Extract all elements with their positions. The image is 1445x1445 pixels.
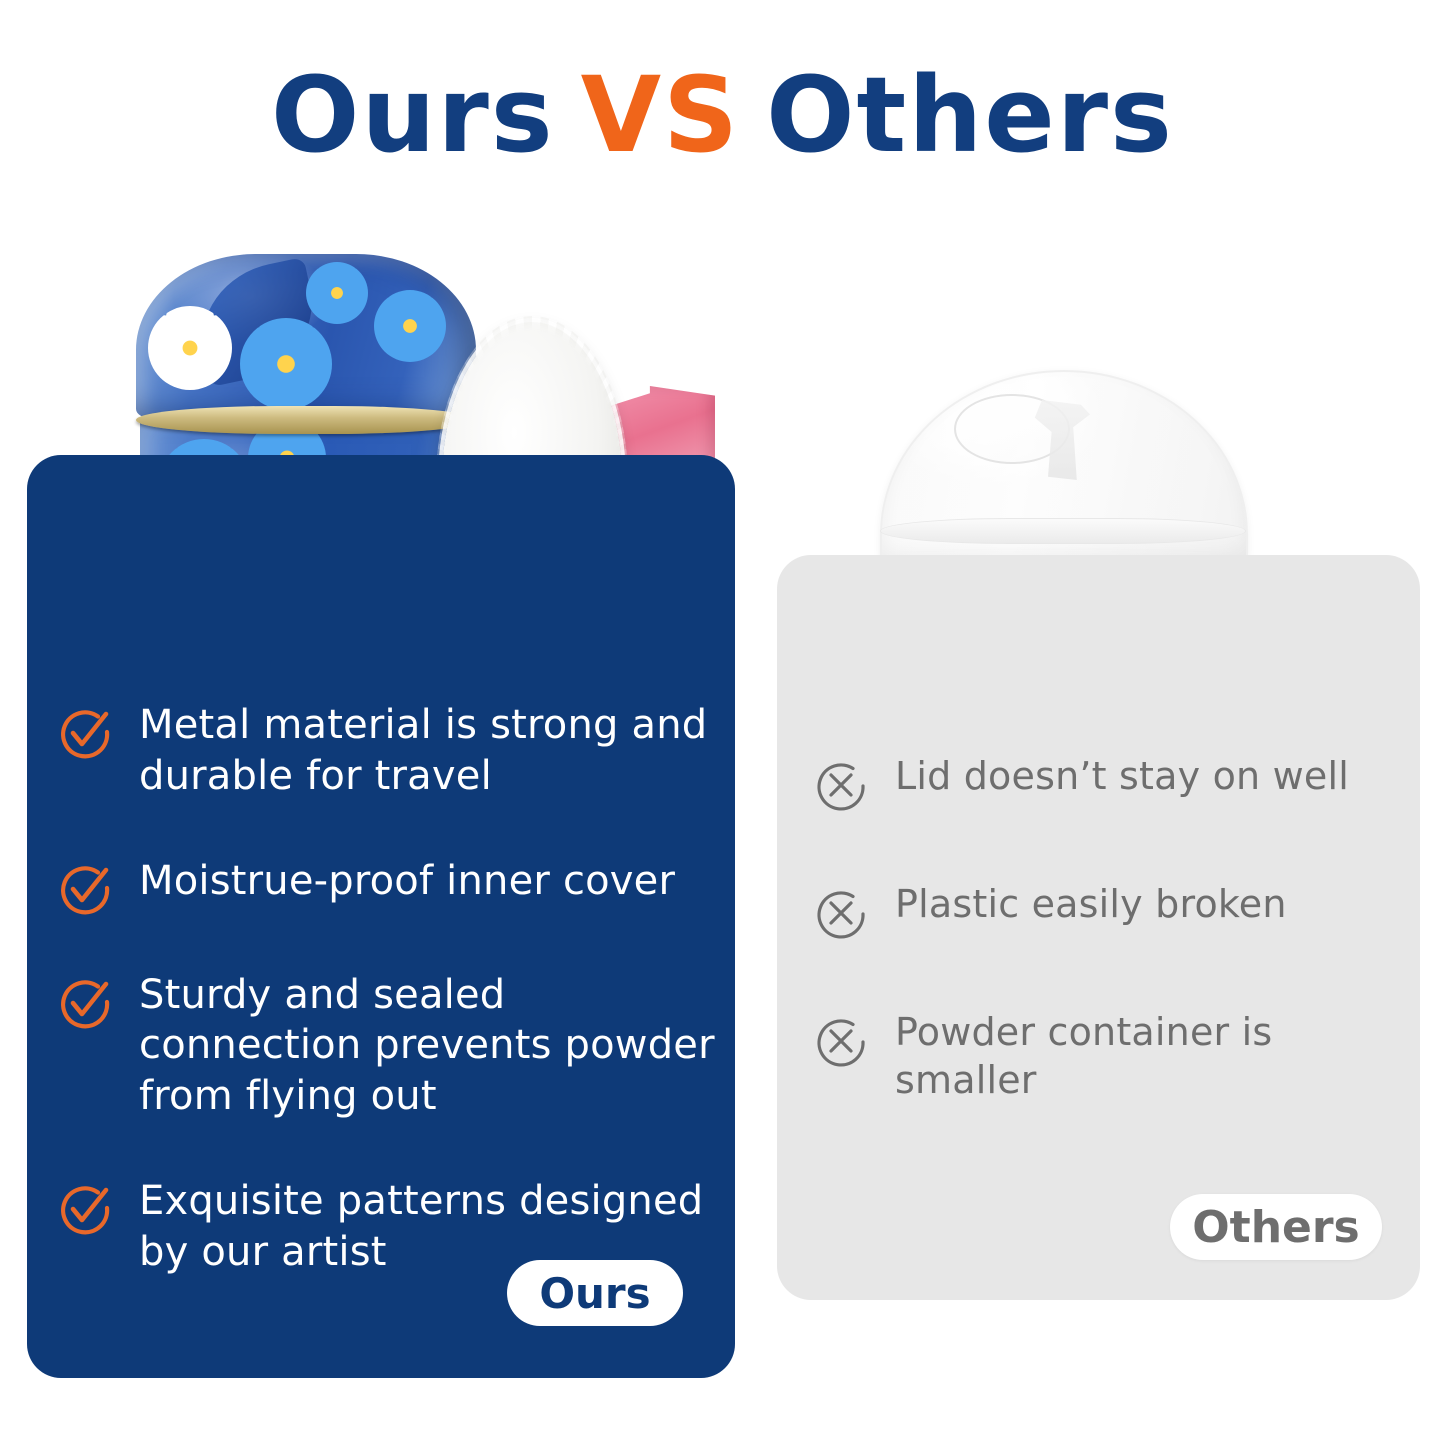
dome-rim [880, 518, 1246, 544]
list-item: Sturdy and sealed connection prevents po… [57, 970, 717, 1122]
list-item: Moistrue-proof inner cover [57, 856, 717, 916]
list-item: Lid doesn’t stay on well [813, 753, 1413, 813]
others-badge: Others [1170, 1194, 1382, 1260]
feature-text: Metal material is strong and durable for… [139, 700, 717, 802]
title-vs: VS [581, 54, 740, 176]
tin-gold-band [136, 406, 476, 434]
feature-text: Sturdy and sealed connection prevents po… [139, 970, 717, 1122]
check-circle-icon [57, 1180, 113, 1236]
ours-panel: Metal material is strong and durable for… [27, 455, 735, 1378]
others-panel: Lid doesn’t stay on well Plastic easily … [777, 555, 1420, 1300]
tin-lid [136, 254, 476, 419]
others-feature-list: Lid doesn’t stay on well Plastic easily … [813, 753, 1413, 1104]
x-circle-icon [813, 757, 869, 813]
feature-text: Lid doesn’t stay on well [895, 753, 1349, 801]
x-circle-icon [813, 1013, 869, 1069]
list-item: Powder container is smaller [813, 1009, 1413, 1104]
title-others: Others [766, 54, 1174, 176]
check-circle-icon [57, 974, 113, 1030]
list-item: Metal material is strong and durable for… [57, 700, 717, 802]
ours-badge: Ours [507, 1260, 683, 1326]
page-title: OursVSOthers [0, 58, 1445, 172]
feature-text: Plastic easily broken [895, 881, 1287, 929]
check-circle-icon [57, 860, 113, 916]
feature-text: Moistrue-proof inner cover [139, 856, 675, 907]
title-ours: Ours [271, 54, 555, 176]
ours-feature-list: Metal material is strong and durable for… [57, 700, 717, 1278]
list-item: Plastic easily broken [813, 881, 1413, 941]
x-circle-icon [813, 885, 869, 941]
check-circle-icon [57, 704, 113, 760]
feature-text: Powder container is smaller [895, 1009, 1413, 1104]
